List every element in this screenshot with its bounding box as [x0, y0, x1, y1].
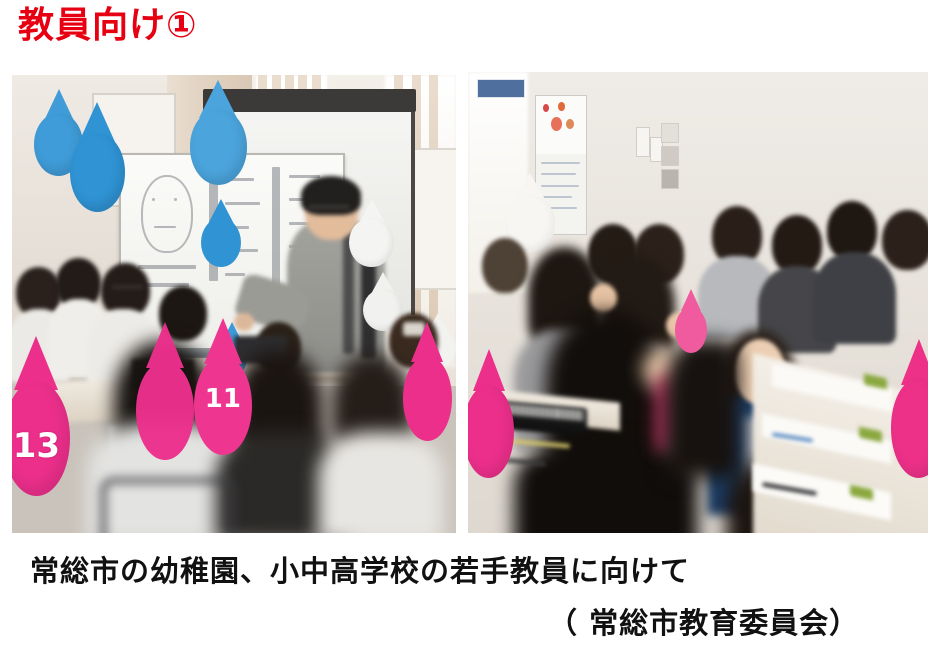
chair-back — [101, 478, 235, 533]
page-title: 教員向け① — [18, 4, 197, 48]
presenter-glasses — [309, 206, 349, 208]
poster-graphic — [543, 104, 549, 112]
foreground-audience-shoulder — [666, 339, 740, 477]
decoration-teardrop-pink — [403, 322, 452, 441]
caption-line-1: 常総市の幼稚園、小中高学校の若手教員に向けて — [30, 554, 690, 588]
wall-plate — [661, 146, 679, 166]
whiteboard-mark — [225, 273, 245, 276]
whiteboard-mark — [138, 265, 196, 269]
wall-sign — [477, 79, 525, 98]
decoration-teardrop-pink — [675, 289, 707, 354]
photo-audience-seated — [468, 72, 928, 533]
decoration-teardrop-blue — [70, 102, 126, 212]
decoration-number: 11 — [200, 384, 246, 414]
decoration-teardrop-blue — [190, 80, 248, 185]
front-audience-shirt — [318, 432, 442, 533]
caption-line-2: （ 常総市教育委員会） — [548, 606, 859, 640]
audience-hand — [590, 284, 618, 312]
poster-image-area — [536, 96, 587, 154]
whiteboard-mark — [272, 167, 281, 285]
whiteboard-face-drawing — [141, 175, 194, 254]
audience-glasses — [112, 286, 143, 288]
decoration-teardrop-blue — [201, 199, 241, 268]
poster-graphic — [558, 102, 565, 111]
decoration-teardrop-pink: 13 — [12, 336, 70, 496]
audience-head — [882, 210, 928, 270]
wall-switch — [636, 127, 650, 157]
photo-right-content — [468, 72, 928, 533]
whiteboard-mark — [174, 198, 177, 201]
wall-plate — [661, 123, 679, 143]
wall-plate — [661, 169, 679, 189]
photo-lecture-room-presenter: 13 11 — [12, 75, 456, 533]
audience-jacket — [813, 252, 896, 344]
decoration-teardrop-pink — [891, 339, 928, 477]
audience-head — [482, 238, 528, 293]
poster-graphic — [566, 119, 574, 129]
whiteboard-mark — [154, 226, 176, 228]
decoration-teardrop-pink — [136, 322, 194, 459]
poster-graphic — [551, 117, 562, 131]
decoration-teardrop-white — [349, 199, 393, 268]
decoration-teardrop-pink: 11 — [194, 318, 252, 455]
whiteboard-mark — [289, 175, 320, 178]
whiteboard-mark — [152, 198, 155, 201]
decoration-number: 13 — [12, 426, 64, 466]
decoration-teardrop-pink — [468, 349, 514, 478]
photo-left-content: 13 11 — [12, 75, 456, 533]
poster-text-line — [541, 162, 580, 164]
